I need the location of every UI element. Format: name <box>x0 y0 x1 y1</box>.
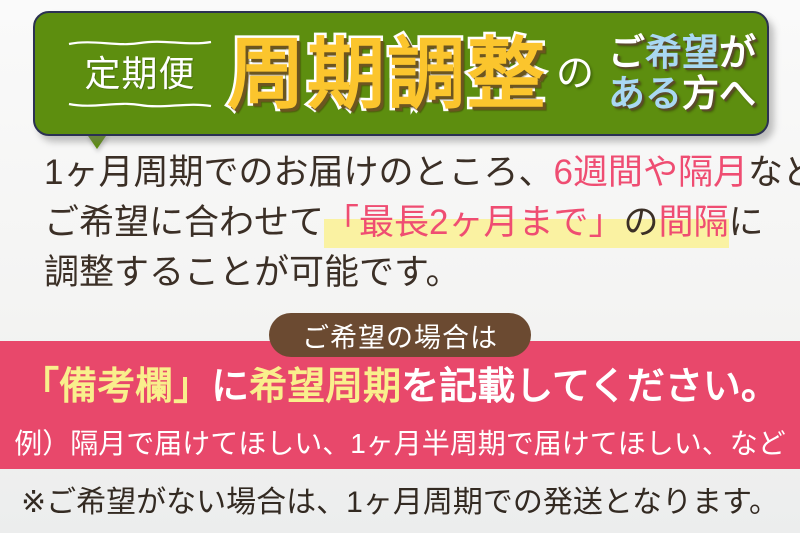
instruction-headline-keyword: 希望周期 <box>249 366 401 408</box>
wave-rule-top-icon <box>69 39 211 47</box>
instruction-headline: 「備考欄」に希望周期を記載してください。 <box>0 355 800 410</box>
wave-rule-bottom-icon <box>69 101 211 109</box>
body-line-1: 1ヶ月周期でのお届けのところ、6週間や隔月など <box>44 148 774 198</box>
body-line2-segment-plain-b: の <box>623 198 658 248</box>
header-subtitle-line1-keyword: 希望 <box>645 32 719 73</box>
body-line1-segment-plain-c: など <box>748 148 800 198</box>
header-subtitle-line-1: ご希望が <box>608 34 756 72</box>
header-subtitle-line1-suffix: が <box>719 32 756 73</box>
body-line-2: ご希望に合わせて「最長2ヶ月まで」の間隔に <box>44 198 774 248</box>
body-line1-segment-highlight-bimonthly: 隔月 <box>678 148 748 198</box>
instruction-headline-action: を記載してください。 <box>401 366 779 408</box>
header-green-bubble: 定期便 周期調整 の ご希望が ある方へ <box>33 11 769 136</box>
subscription-tag-label: 定期便 <box>84 56 195 92</box>
instruction-headline-particle: に <box>211 366 249 408</box>
body-line2-segment-plain-a: ご希望に合わせて <box>44 198 324 248</box>
request-case-badge: ご希望の場合は <box>269 313 531 357</box>
header-subtitle-line1-prefix: ご <box>608 32 645 73</box>
header-connector: の <box>556 55 594 93</box>
body-line3-segment-plain: 調整することが可能です。 <box>44 248 461 298</box>
header-subtitle-line-2: ある方へ <box>608 75 756 113</box>
header-subtitle-line2-suffix: 方へ <box>682 73 756 114</box>
header-subtitle: ご希望が ある方へ <box>608 34 756 113</box>
body-line1-segment-plain-a: 1ヶ月周期でのお届けのところ、 <box>44 148 553 198</box>
header-title: 周期調整 <box>227 35 547 113</box>
instruction-example: 例）隔月で届けてほしい、1ヶ月半周期で届けてほしい、など <box>0 422 800 462</box>
request-case-badge-label: ご希望の場合は <box>302 316 498 355</box>
body-line1-segment-highlight-6weeks: 6週間 <box>553 148 642 198</box>
footer-note: ※ご希望がない場合は、1ヶ月周期での発送となります。 <box>0 477 800 521</box>
body-line2-segment-plain-c: に <box>729 198 764 248</box>
instruction-headline-field-name: 「備考欄」 <box>21 366 211 408</box>
subscription-tag: 定期便 <box>61 28 219 120</box>
body-line-3: 調整することが可能です。 <box>44 248 774 298</box>
body-line2-segment-highlight-interval: 間隔 <box>659 198 729 248</box>
header-subtitle-line2-keyword: ある <box>608 73 682 114</box>
body-line1-segment-plain-b: や <box>643 148 678 198</box>
promo-banner: 定期便 周期調整 の ご希望が ある方へ 1ヶ月周期でのお届けのところ、6週間や… <box>0 0 800 533</box>
body-line2-segment-highlight-max-two-months: 「最長2ヶ月まで」 <box>324 198 623 248</box>
body-paragraph: 1ヶ月周期でのお届けのところ、6週間や隔月など ご希望に合わせて「最長2ヶ月まで… <box>44 148 774 298</box>
header-section: 定期便 周期調整 の ご希望が ある方へ <box>0 0 800 150</box>
